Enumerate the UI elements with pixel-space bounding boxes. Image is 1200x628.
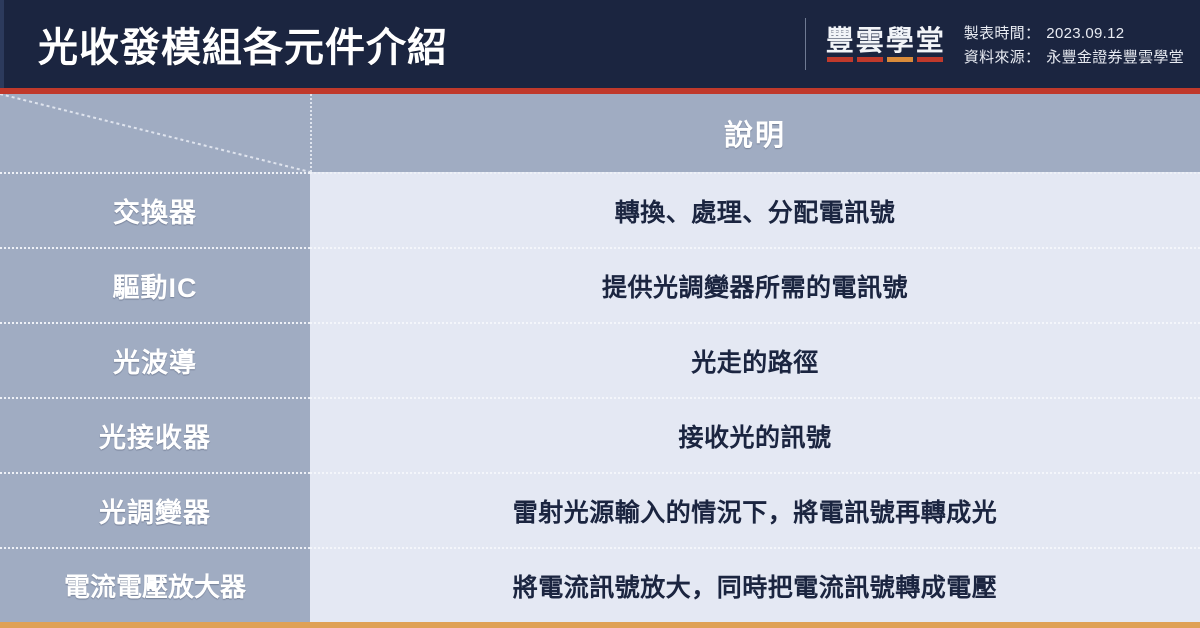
source-line: 資料來源：永豐金證券豐雲學堂: [964, 46, 1184, 67]
creation-date-line: 製表時間：2023.09.12: [964, 22, 1184, 43]
description-cell: 將電流訊號放大，同時把電流訊號轉成電壓: [310, 547, 1200, 622]
logo-char-1: 豐: [826, 27, 854, 62]
description-cell: 雷射光源輸入的情況下，將電訊號再轉成光: [310, 472, 1200, 547]
page-header: 光收發模組各元件介紹 豐 雲 學 堂 製表時間：2023.09.12 資料來源：…: [0, 0, 1200, 88]
term-label: 交換器: [113, 191, 197, 230]
table-row: 光調變器 雷射光源輸入的情況下，將電訊號再轉成光: [0, 472, 1200, 547]
term-label: 光接收器: [99, 416, 211, 455]
infographic-page: 光收發模組各元件介紹 豐 雲 學 堂 製表時間：2023.09.12 資料來源：…: [0, 0, 1200, 628]
term-label: 驅動IC: [113, 266, 198, 305]
components-table: 說明 交換器 轉換、處理、分配電訊號 驅動IC 提供光調變器所需的電訊號 光波導: [0, 94, 1200, 622]
term-label: 光調變器: [99, 491, 211, 530]
source-value: 永豐金證券豐雲學堂: [1046, 49, 1184, 66]
logo-char-2: 雲: [856, 27, 884, 62]
brand-logo: 豐 雲 學 堂: [826, 27, 946, 62]
term-label: 光波導: [113, 341, 197, 380]
diagonal-line-icon: [0, 94, 310, 172]
creation-date-value: 2023.09.12: [1046, 25, 1124, 42]
description-cell: 轉換、處理、分配電訊號: [310, 172, 1200, 247]
description-cell: 提供光調變器所需的電訊號: [310, 247, 1200, 322]
description-text: 將電流訊號放大，同時把電流訊號轉成電壓: [513, 568, 998, 604]
header-divider: [805, 18, 806, 70]
description-text: 接收光的訊號: [678, 418, 831, 454]
term-label: 電流電壓放大器: [64, 567, 246, 604]
header-column-divider: [310, 94, 312, 172]
table-header-row: 說明: [0, 94, 1200, 172]
term-cell: 驅動IC: [0, 247, 310, 322]
table-row: 電流電壓放大器 將電流訊號放大，同時把電流訊號轉成電壓: [0, 547, 1200, 622]
term-cell: 光接收器: [0, 397, 310, 472]
description-text: 轉換、處理、分配電訊號: [615, 193, 896, 229]
term-cell: 光波導: [0, 322, 310, 397]
source-label: 資料來源：: [964, 49, 1041, 66]
table-row: 驅動IC 提供光調變器所需的電訊號: [0, 247, 1200, 322]
description-cell: 光走的路徑: [310, 322, 1200, 397]
column-header-label: 說明: [724, 112, 786, 154]
logo-char-4: 堂: [916, 27, 944, 62]
term-cell: 電流電壓放大器: [0, 547, 310, 622]
orange-accent-bar: [0, 622, 1200, 628]
logo-char-3: 學: [886, 27, 914, 62]
table-row: 光波導 光走的路徑: [0, 322, 1200, 397]
description-text: 光走的路徑: [691, 343, 819, 379]
table-row: 交換器 轉換、處理、分配電訊號: [0, 172, 1200, 247]
term-cell: 交換器: [0, 172, 310, 247]
page-title: 光收發模組各元件介紹: [38, 15, 448, 73]
column-header-description: 說明: [310, 94, 1200, 172]
creation-date-label: 製表時間：: [964, 25, 1041, 42]
header-metadata: 製表時間：2023.09.12 資料來源：永豐金證券豐雲學堂: [964, 22, 1184, 67]
corner-cell: [0, 94, 310, 172]
header-right-group: 豐 雲 學 堂 製表時間：2023.09.12 資料來源：永豐金證券豐雲學堂: [805, 0, 1184, 88]
description-cell: 接收光的訊號: [310, 397, 1200, 472]
term-cell: 光調變器: [0, 472, 310, 547]
description-text: 提供光調變器所需的電訊號: [602, 268, 908, 304]
table-row: 光接收器 接收光的訊號: [0, 397, 1200, 472]
description-text: 雷射光源輸入的情況下，將電訊號再轉成光: [513, 493, 998, 529]
